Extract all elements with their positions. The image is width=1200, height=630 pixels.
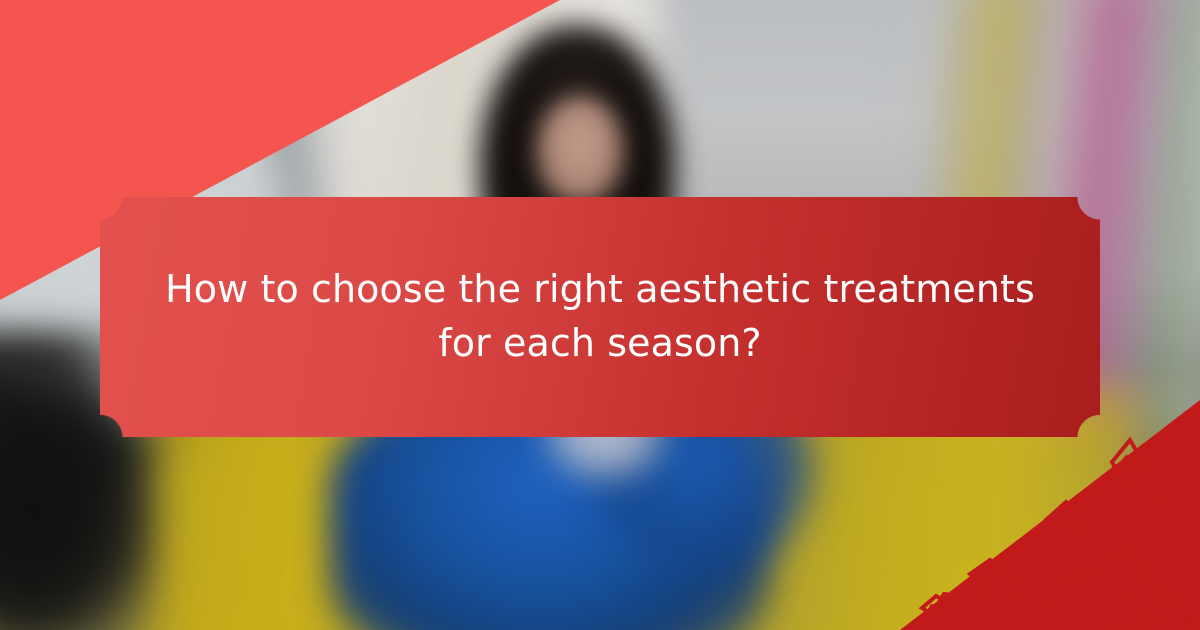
- title-banner: How to choose the right aesthetic treatm…: [100, 197, 1100, 437]
- page-title: How to choose the right aesthetic treatm…: [100, 263, 1100, 371]
- social-share-card: How to choose the right aesthetic treatm…: [0, 0, 1200, 630]
- background-person-face: [536, 96, 624, 204]
